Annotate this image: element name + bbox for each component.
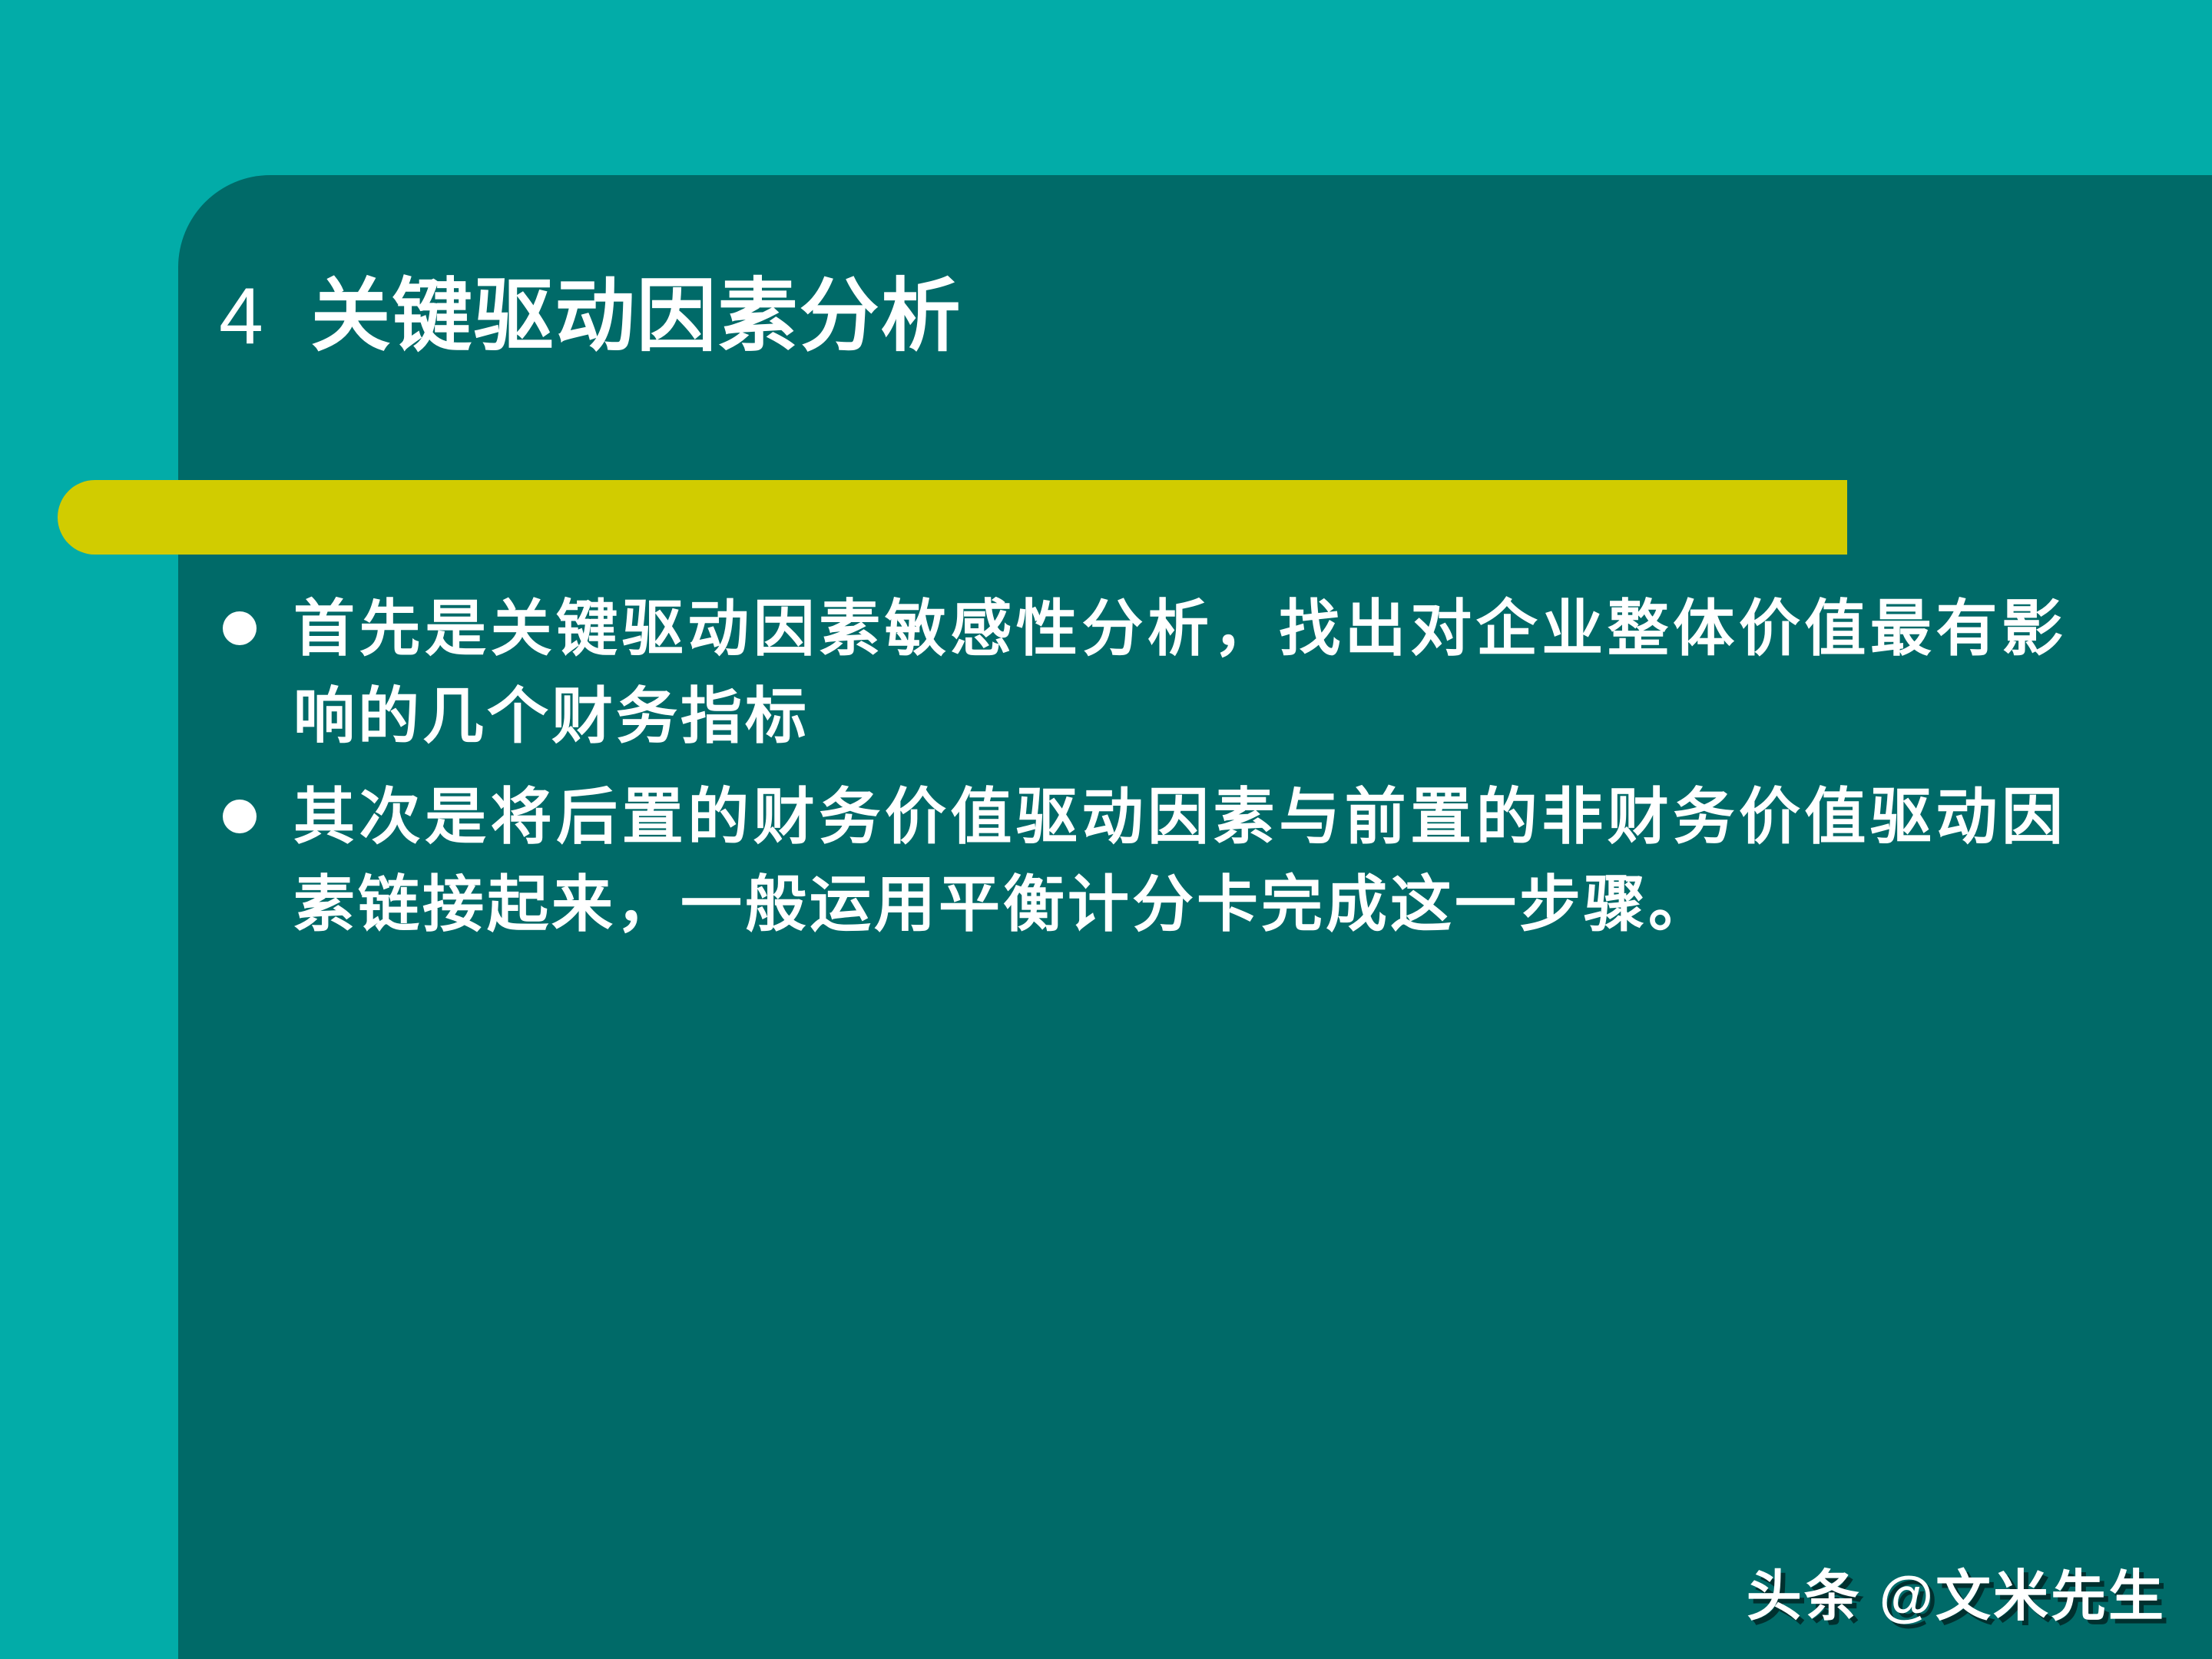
bullet-text: 首先是关键驱动因素敏感性分析，找出对企业整体价值最有影响的几个财务指标 xyxy=(293,585,2066,760)
list-item: 其次是将后置的财务价值驱动因素与前置的非财务价值驱动因素链接起来，一般运用平衡计… xyxy=(223,773,2066,948)
bullet-list: 首先是关键驱动因素敏感性分析，找出对企业整体价值最有影响的几个财务指标 其次是将… xyxy=(223,585,2066,962)
bullet-text: 其次是将后置的财务价值驱动因素与前置的非财务价值驱动因素链接起来，一般运用平衡计… xyxy=(293,773,2066,948)
list-item: 首先是关键驱动因素敏感性分析，找出对企业整体价值最有影响的几个财务指标 xyxy=(223,585,2066,760)
watermark: 头条 @文米先生 xyxy=(1747,1551,2166,1631)
title-spacer xyxy=(263,272,311,361)
top-left-color-block xyxy=(0,0,768,165)
page-title: 4 关键驱动因素分析 xyxy=(219,273,962,360)
bullet-dot-icon xyxy=(223,800,257,833)
slide-canvas: 4 关键驱动因素分析 首先是关键驱动因素敏感性分析，找出对企业整体价值最有影响的… xyxy=(0,0,2212,1659)
title-number: 4 xyxy=(219,272,263,361)
title-label: 关键驱动因素分析 xyxy=(311,272,962,361)
bullet-dot-icon xyxy=(223,611,257,645)
yellow-accent-bar xyxy=(58,480,1847,555)
